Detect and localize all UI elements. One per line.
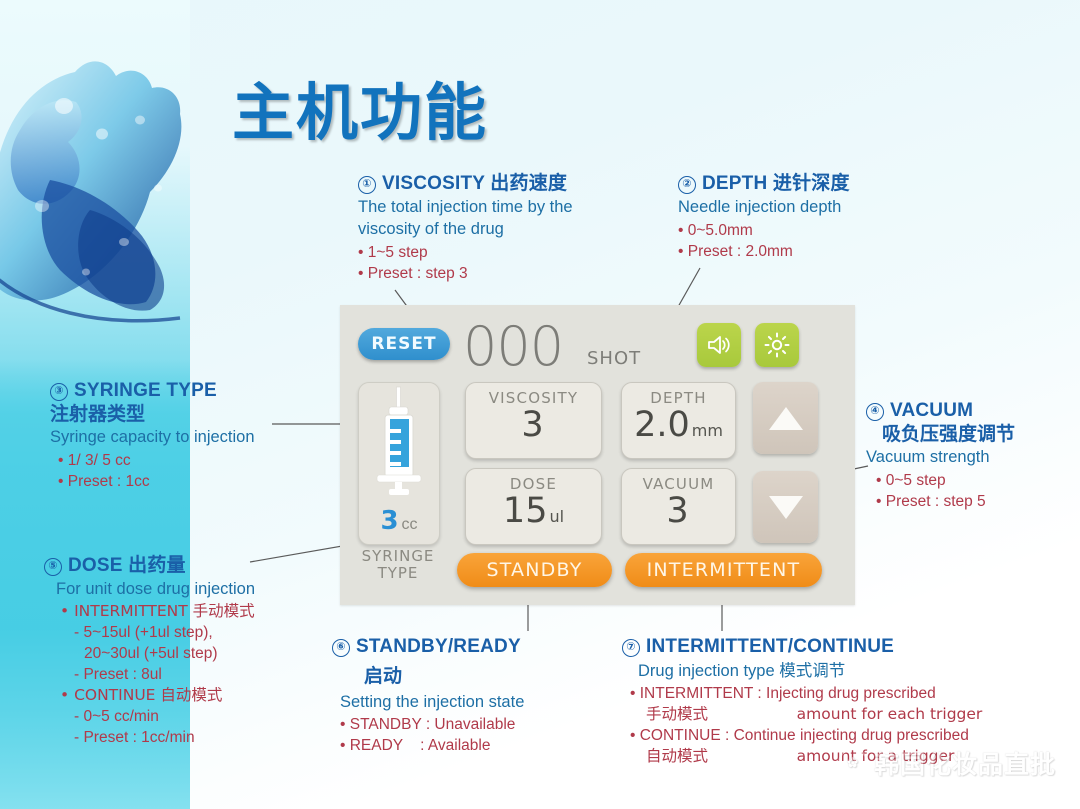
annotation-dose-bullet-3: 20~30ul (+5ul step): [44, 643, 255, 664]
annotation-vacuum: ④VACUUM 吸负压强度调节 Vacuum strength • 0~5 st…: [866, 400, 1015, 512]
annotation-dose-bullet-4: - Preset : 8ul: [44, 664, 255, 685]
speaker-icon[interactable]: [697, 323, 741, 367]
annotation-vacuum-bullet-2: • Preset : step 5: [866, 491, 1015, 512]
dose-field[interactable]: DOSE 15ul: [465, 468, 602, 545]
annotation-syringe-heading: ③SYRINGE TYPE: [50, 380, 255, 402]
annotation-depth-bullet-2: • Preset : 2.0mm: [678, 241, 850, 262]
annotation-intermittent-heading: ⑦INTERMITTENT/CONTINUE: [622, 636, 982, 658]
triangle-up-icon[interactable]: [753, 382, 818, 454]
annotation-depth-title-en: DEPTH: [702, 173, 767, 194]
annotation-intermittent-bullet-1: • INTERMITTENT : Injecting drug prescrib…: [622, 683, 982, 704]
annotation-dose-line-1: For unit dose drug injection: [44, 579, 255, 599]
annotation-number-5: ⑤: [44, 558, 62, 576]
annotation-standby-ready: ⑥STANDBY/READY 启动 Setting the injection …: [332, 636, 524, 756]
depth-value-wrap: 2.0mm: [622, 405, 735, 445]
annotation-depth: ②DEPTH 进针深度 Needle injection depth • 0~5…: [678, 168, 850, 262]
annotation-viscosity-heading: ①VISCOSITY 出药速度: [358, 168, 573, 195]
syringe-capacity-value: 3: [380, 506, 398, 536]
annotation-vacuum-line-1: Vacuum strength: [866, 447, 1015, 467]
shot-counter-value: 000: [463, 315, 563, 378]
annotation-syringe-type: ③SYRINGE TYPE 注射器类型 Syringe capacity to …: [50, 380, 255, 492]
annotation-dose-bullet-6: - 0~5 cc/min: [44, 706, 255, 727]
annotation-viscosity-title-cn: 出药速度: [490, 172, 567, 194]
annotation-standby-title-en: STANDBY/READY: [356, 636, 521, 657]
dose-value-wrap: 15ul: [466, 491, 601, 531]
annotation-standby-bullet-1: • STANDBY : Unavailable: [332, 714, 524, 735]
annotation-viscosity-title-en: VISCOSITY: [382, 173, 485, 194]
depth-unit: mm: [692, 421, 723, 440]
depth-field[interactable]: DEPTH 2.0mm: [621, 382, 736, 459]
dose-value: 15: [503, 491, 548, 531]
syringe-type-label-line1: SYRINGE: [352, 548, 444, 565]
watermark-text: 韩国化妆品直批: [874, 745, 1056, 781]
annotation-depth-title-cn: 进针深度: [773, 172, 850, 194]
annotation-dose-heading: ⑤DOSE 出药量: [44, 550, 255, 577]
annotation-syringe-line-1: Syringe capacity to injection: [50, 427, 255, 447]
annotation-depth-bullet-1: • 0~5.0mm: [678, 220, 850, 241]
annotation-syringe-bullet-2: • Preset : 1cc: [50, 471, 255, 492]
annotation-dose-bullet-5: • CONTINUE 自动模式: [44, 685, 255, 706]
watermark: ✿ 韩国化妆品直批: [838, 745, 1056, 781]
page-title: 主机功能: [232, 62, 488, 152]
annotation-viscosity-bullet-1: • 1~5 step: [358, 242, 573, 263]
gear-icon[interactable]: [755, 323, 799, 367]
annotation-dose-title-en: DOSE: [68, 555, 123, 576]
annotation-syringe-title-en: SYRINGE TYPE: [74, 380, 217, 401]
vacuum-value: 3: [666, 491, 688, 531]
syringe-type-label: SYRINGE TYPE: [352, 548, 444, 582]
viscosity-field[interactable]: VISCOSITY 3: [465, 382, 602, 459]
standby-button[interactable]: STANDBY: [457, 553, 612, 587]
annotation-viscosity-bullet-2: • Preset : step 3: [358, 263, 573, 284]
syringe-type-display[interactable]: 3cc: [358, 382, 440, 545]
annotation-dose-bullet-7: - Preset : 1cc/min: [44, 727, 255, 748]
annotation-dose-bullet-1: • INTERMITTENT 手动模式: [44, 601, 255, 622]
annotation-number-1: ①: [358, 176, 376, 194]
annotation-viscosity-line-2: viscosity of the drug: [358, 219, 573, 239]
annotation-vacuum-title-en: VACUUM: [890, 400, 973, 421]
slide-root: 主机功能: [0, 0, 1080, 809]
annotation-viscosity-line-1: The total injection time by the: [358, 197, 573, 217]
viscosity-value: 3: [521, 405, 543, 445]
annotation-intermittent-line-1: Drug injection type 模式调节: [622, 661, 982, 681]
annotation-dose: ⑤DOSE 出药量 For unit dose drug injection •…: [44, 550, 255, 748]
annotation-vacuum-title-cn: 吸负压强度调节: [866, 424, 1015, 444]
annotation-standby-heading: ⑥STANDBY/READY: [332, 636, 524, 658]
annotation-standby-bullet-2: • READY : Available: [332, 735, 524, 756]
annotation-number-2: ②: [678, 176, 696, 194]
annotation-number-4: ④: [866, 403, 884, 421]
watermark-logo-icon: ✿: [838, 748, 868, 778]
annotation-intermittent-title-en: INTERMITTENT/CONTINUE: [646, 636, 894, 657]
water-splash-image: [0, 10, 195, 340]
annotation-dose-bullet-2: - 5~15ul (+1ul step),: [44, 622, 255, 643]
annotation-intermittent-bullet-3: • CONTINUE : Continue injecting drug pre…: [622, 725, 982, 746]
viscosity-value-wrap: 3: [466, 405, 601, 445]
intermittent-button[interactable]: INTERMITTENT: [625, 553, 822, 587]
annotation-syringe-title-cn: 注射器类型: [50, 404, 255, 424]
triangle-down-icon[interactable]: [753, 471, 818, 543]
dose-unit: ul: [549, 507, 564, 526]
annotation-vacuum-bullet-1: • 0~5 step: [866, 470, 1015, 491]
reset-button[interactable]: RESET: [358, 328, 450, 360]
annotation-vacuum-heading: ④VACUUM: [866, 400, 1015, 422]
annotation-depth-line-1: Needle injection depth: [678, 197, 850, 217]
shot-counter-label: SHOT: [587, 348, 641, 369]
annotation-number-6: ⑥: [332, 639, 350, 657]
annotation-syringe-bullet-1: • 1/ 3/ 5 cc: [50, 450, 255, 471]
vacuum-field[interactable]: VACUUM 3: [621, 468, 736, 545]
annotation-dose-title-cn: 出药量: [128, 554, 186, 576]
annotation-standby-title-cn: 启动: [332, 666, 524, 686]
annotation-number-7: ⑦: [622, 639, 640, 657]
annotation-intermittent-bullet-2: 手动模式 amount for each trigger: [622, 704, 982, 725]
depth-value: 2.0: [634, 405, 690, 445]
device-control-panel: RESET 000 SHOT: [340, 305, 855, 605]
syringe-capacity: 3cc: [359, 506, 439, 536]
annotation-viscosity: ①VISCOSITY 出药速度 The total injection time…: [358, 168, 573, 284]
annotation-number-3: ③: [50, 383, 68, 401]
syringe-capacity-unit: cc: [402, 516, 418, 533]
annotation-depth-heading: ②DEPTH 进针深度: [678, 168, 850, 195]
annotation-standby-line-1: Setting the injection state: [332, 692, 524, 712]
vacuum-value-wrap: 3: [622, 491, 735, 531]
syringe-type-label-line2: TYPE: [352, 565, 444, 582]
